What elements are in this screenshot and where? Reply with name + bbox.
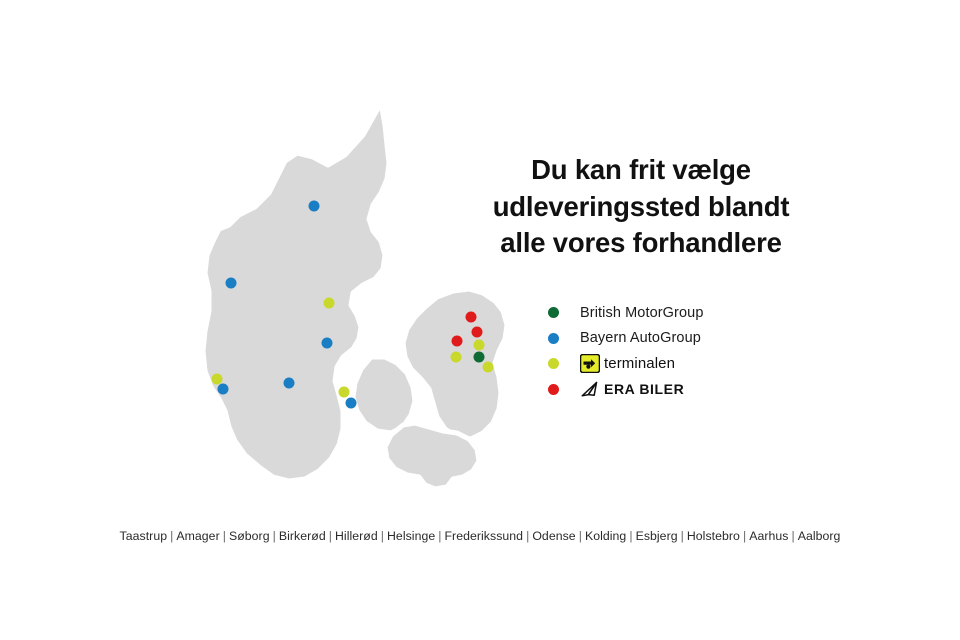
headline-line-1: Du kan frit vælge [466,152,816,189]
legend-label-british-motorgroup: British MotorGroup [580,305,703,321]
map-marker-odense-yellow[interactable] [339,387,350,398]
city-kolding: Kolding [584,529,627,543]
map-legend: British MotorGroup Bayern AutoGroup term… [548,300,808,402]
terminalen-logo-icon [580,354,600,373]
terminalen-brand: terminalen [580,354,675,373]
jutland-shape [203,103,389,481]
city-separator: | [327,529,334,543]
city-aalborg: Aalborg [797,529,842,543]
legend-dot-yellow [548,358,559,369]
map-marker-kolding-blue[interactable] [284,378,295,389]
funen-shape [353,357,415,433]
city-separator: | [627,529,634,543]
legend-dot-blue [548,333,559,344]
city-holstebro: Holstebro [686,529,741,543]
map-marker-soborg-green[interactable] [474,352,485,363]
era-biler-logo-icon [580,381,600,398]
map-marker-odense-blue[interactable] [346,398,357,409]
city-odense: Odense [531,529,576,543]
map-marker-holstebro[interactable] [226,278,237,289]
map-marker-birkerod-yellow[interactable] [474,340,485,351]
city-separator: | [221,529,228,543]
map-marker-helsinge-red[interactable] [466,312,477,323]
legend-item-era-biler[interactable]: ERA BILER [548,377,808,403]
city-separator: | [679,529,686,543]
headline-line-2: udleveringssted blandt [466,189,816,226]
legend-dot-green [548,307,559,318]
slide-canvas: Du kan frit vælge udleveringssted blandt… [0,0,960,640]
legend-item-terminalen[interactable]: terminalen [548,351,808,377]
city-list: Taastrup|Amager|Søborg|Birkerød|Hillerød… [0,529,960,543]
city-hiller-d: Hillerød [334,529,379,543]
city-separator: | [436,529,443,543]
city-amager: Amager [175,529,220,543]
legend-item-bayern-autogroup[interactable]: Bayern AutoGroup [548,326,808,352]
city-separator: | [789,529,796,543]
city-birker-d: Birkerød [278,529,327,543]
legend-label-terminalen: terminalen [604,355,675,372]
city-separator: | [577,529,584,543]
map-marker-aarhus-yellow[interactable] [324,298,335,309]
legend-label-bayern-autogroup: Bayern AutoGroup [580,330,701,346]
legend-item-british-motorgroup[interactable]: British MotorGroup [548,300,808,326]
city-s-borg: Søborg [228,529,271,543]
era-biler-brand: ERA BILER [580,381,684,398]
map-marker-aarhus-blue[interactable] [322,338,333,349]
legend-dot-red [548,384,559,395]
city-separator: | [271,529,278,543]
page-title: Du kan frit vælge udleveringssted blandt… [466,152,816,262]
city-taastrup: Taastrup [119,529,169,543]
map-marker-hillerod-red[interactable] [472,327,483,338]
city-esbjerg: Esbjerg [635,529,679,543]
city-separator: | [379,529,386,543]
map-marker-aalborg[interactable] [309,201,320,212]
city-frederikssund: Frederikssund [444,529,525,543]
city-aarhus: Aarhus [748,529,789,543]
map-marker-frederikssund-red[interactable] [452,336,463,347]
map-marker-taastrup-yellow[interactable] [451,352,462,363]
map-marker-amager-yellow[interactable] [483,362,494,373]
legend-label-era-biler: ERA BILER [604,381,684,397]
map-marker-esbjerg-blue[interactable] [218,384,229,395]
headline-line-3: alle vores forhandlere [466,225,816,262]
city-helsinge: Helsinge [386,529,436,543]
